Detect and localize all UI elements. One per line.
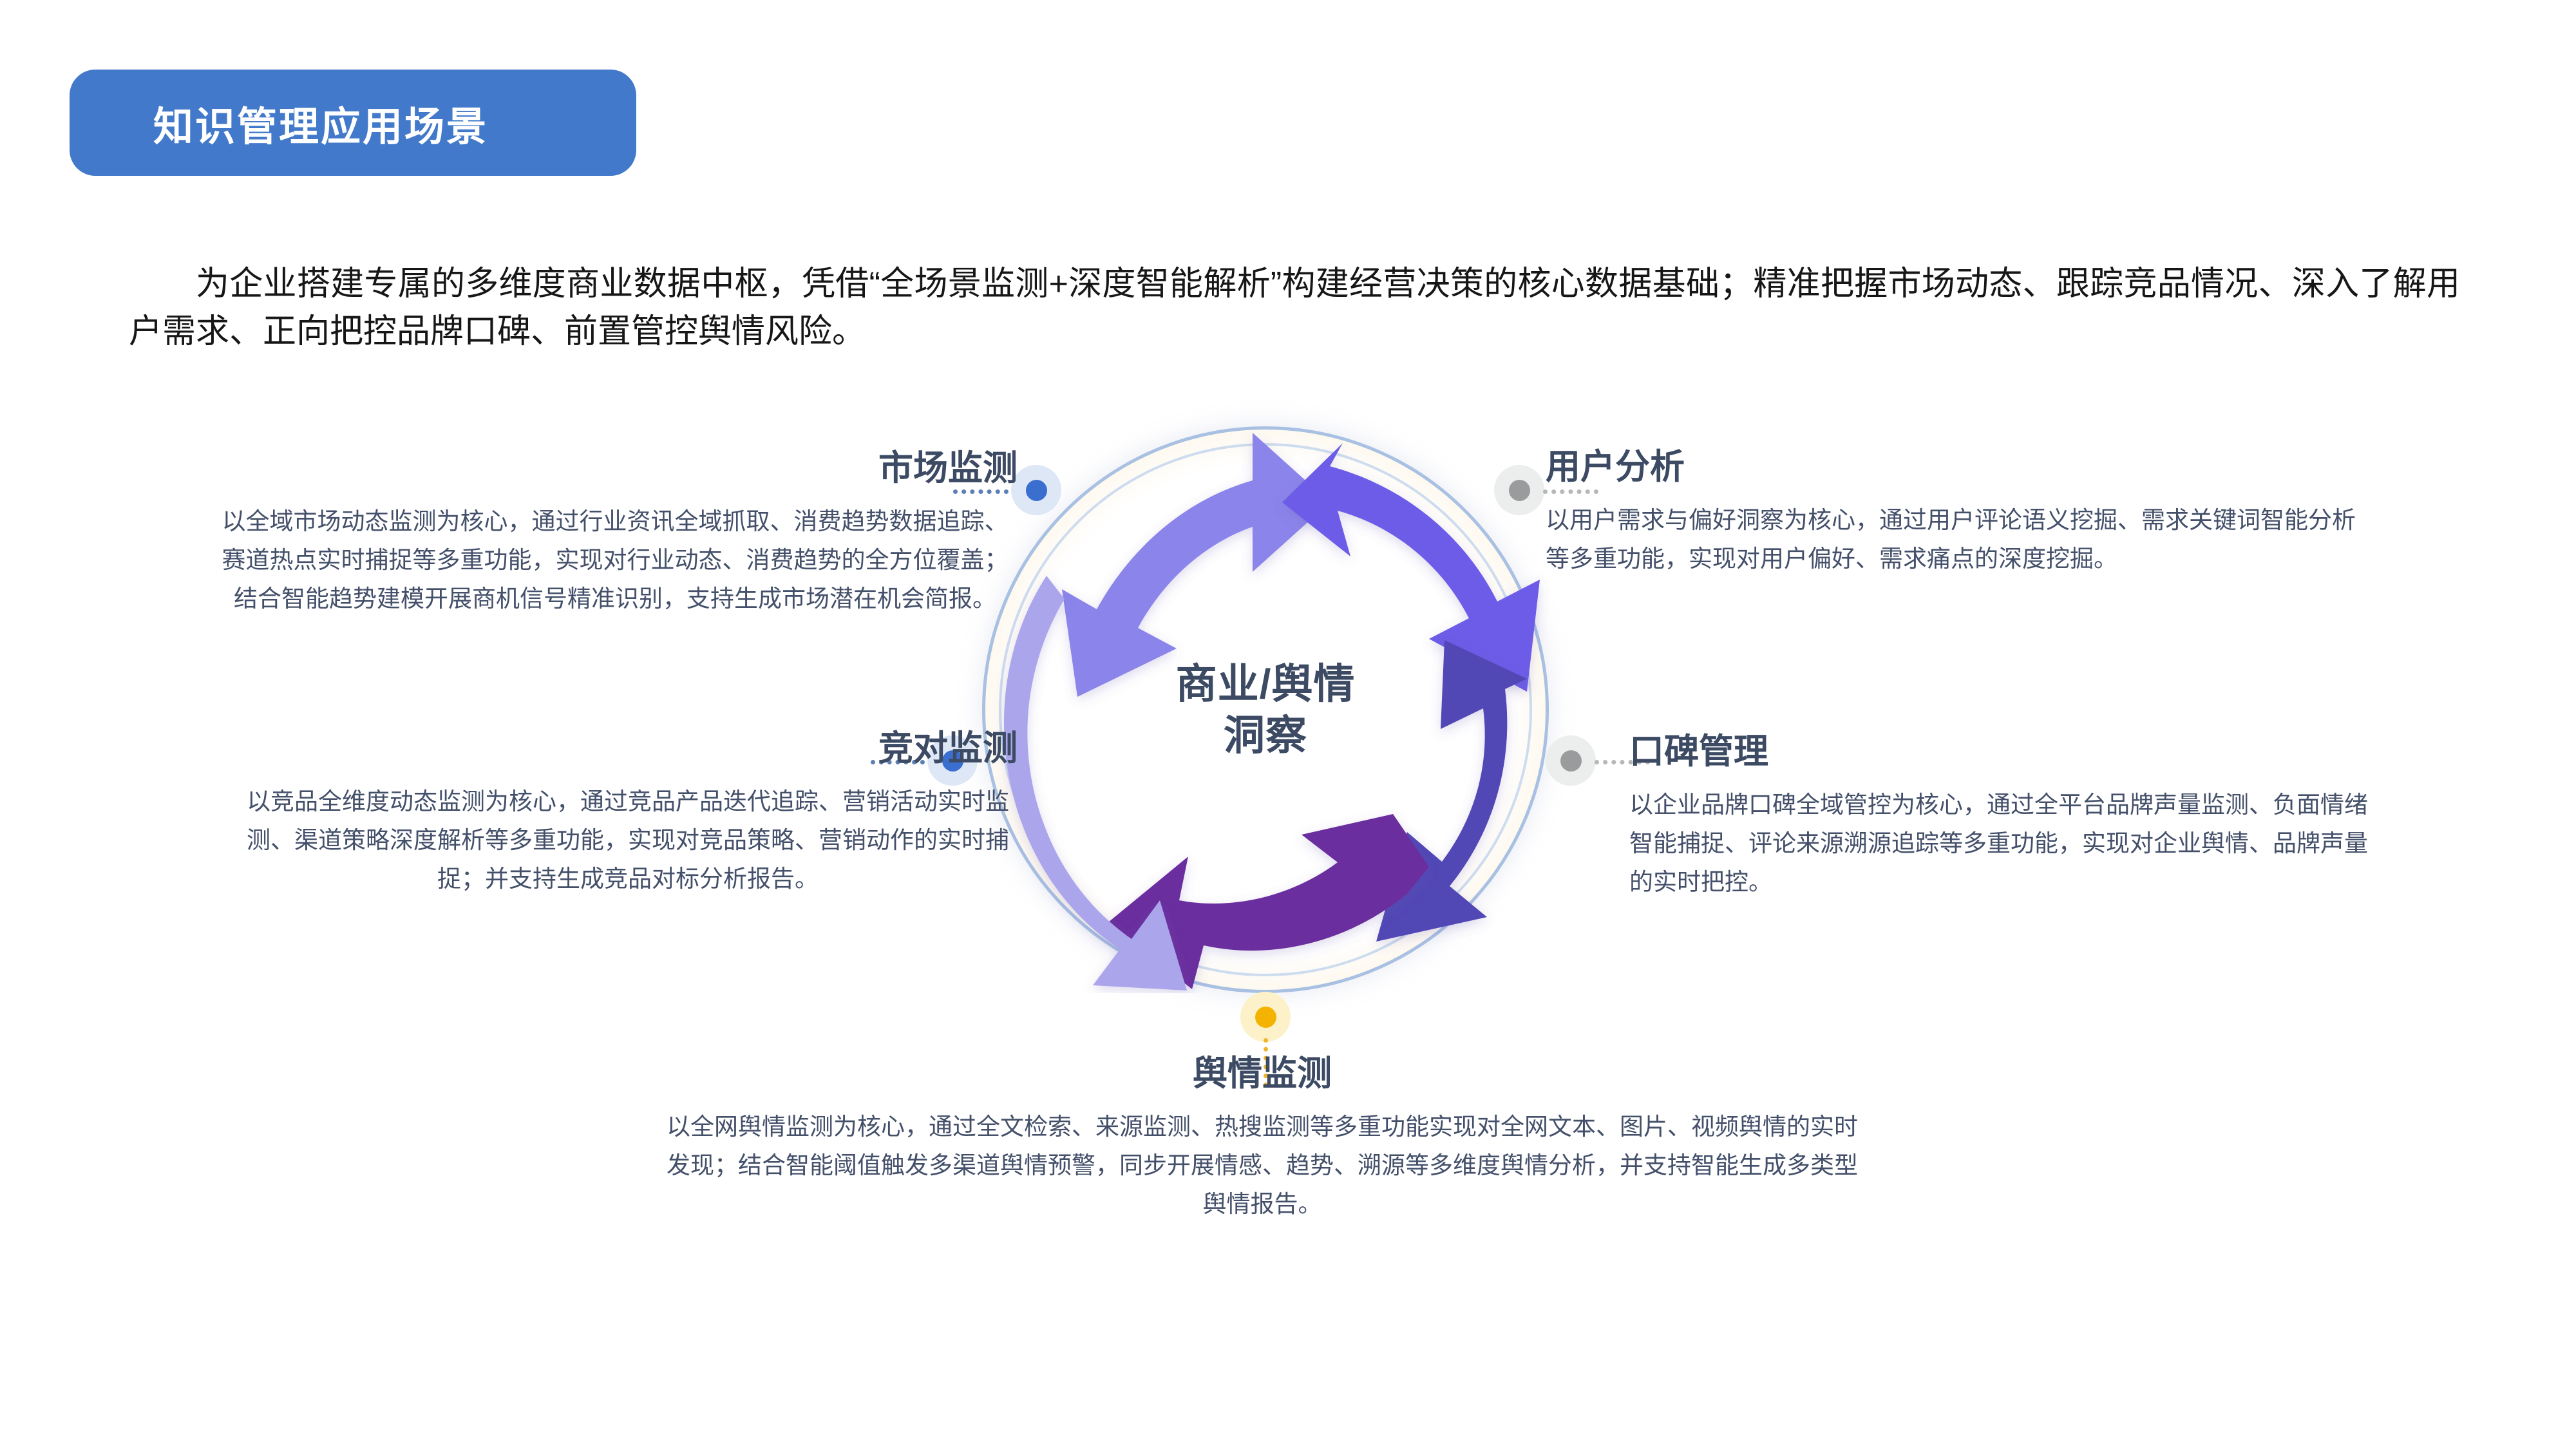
cycle-arrows — [982, 426, 1549, 993]
marker-market[interactable] — [1011, 465, 1061, 515]
page-title-badge: 知识管理应用场景 — [70, 70, 636, 176]
marker-user[interactable] — [1494, 465, 1544, 515]
callout-opinion-title: 舆情监测 — [663, 1056, 1861, 1091]
marker-reputation[interactable] — [1546, 735, 1596, 786]
callout-market-title: 市场监测 — [213, 451, 1018, 486]
gray-dot-icon — [1560, 750, 1582, 772]
page-title: 知识管理应用场景 — [153, 94, 488, 152]
callout-competitor-title: 竞对监测 — [238, 731, 1018, 766]
blue-dot-icon — [1026, 480, 1047, 501]
marker-opinion[interactable] — [1240, 992, 1291, 1042]
callout-market-body: 以全域市场动态监测为核心，通过行业资讯全域抓取、消费趋势数据追踪、赛道热点实时捕… — [213, 502, 1018, 618]
callout-market: 市场监测 以全域市场动态监测为核心，通过行业资讯全域抓取、消费趋势数据追踪、赛道… — [213, 451, 1018, 618]
callout-user: 用户分析 以用户需求与偏好洞察为核心，通过用户评论语义挖掘、需求关键词智能分析等… — [1546, 450, 2376, 578]
slide-canvas: 知识管理应用场景 为企业搭建专属的多维度商业数据中枢，凭借“全场景监测+深度智能… — [0, 0, 2576, 1449]
arrow-top-left — [1062, 433, 1330, 697]
cycle-diagram: 商业/舆情 洞察 — [982, 426, 1549, 993]
callout-reputation-body: 以企业品牌口碑全域管控为核心，通过全平台品牌声量监测、负面情绪智能捕捉、评论来源… — [1629, 786, 2383, 902]
gray-dot-icon — [1509, 480, 1530, 501]
callout-competitor: 竞对监测 以竞品全维度动态监测为核心，通过竞品产品迭代追踪、营销活动实时监测、渠… — [238, 731, 1018, 898]
callout-reputation: 口碑管理 以企业品牌口碑全域管控为核心，通过全平台品牌声量监测、负面情绪智能捕捉… — [1629, 734, 2383, 902]
callout-reputation-title: 口碑管理 — [1629, 734, 2383, 769]
amber-dot-icon — [1255, 1007, 1276, 1028]
callout-user-title: 用户分析 — [1546, 450, 2376, 484]
callout-competitor-body: 以竞品全维度动态监测为核心，通过竞品产品迭代追踪、营销活动实时监测、渠道策略深度… — [238, 782, 1018, 898]
callout-opinion-body: 以全网舆情监测为核心，通过全文检索、来源监测、热搜监测等多重功能实现对全网文本、… — [663, 1108, 1861, 1224]
intro-paragraph: 为企业搭建专属的多维度商业数据中枢，凭借“全场景监测+深度智能解析”构建经营决策… — [129, 261, 2460, 356]
callout-opinion: 舆情监测 以全网舆情监测为核心，通过全文检索、来源监测、热搜监测等多重功能实现对… — [663, 1056, 1861, 1224]
callout-user-body: 以用户需求与偏好洞察为核心，通过用户评论语义挖掘、需求关键词智能分析等多重功能，… — [1546, 501, 2376, 578]
